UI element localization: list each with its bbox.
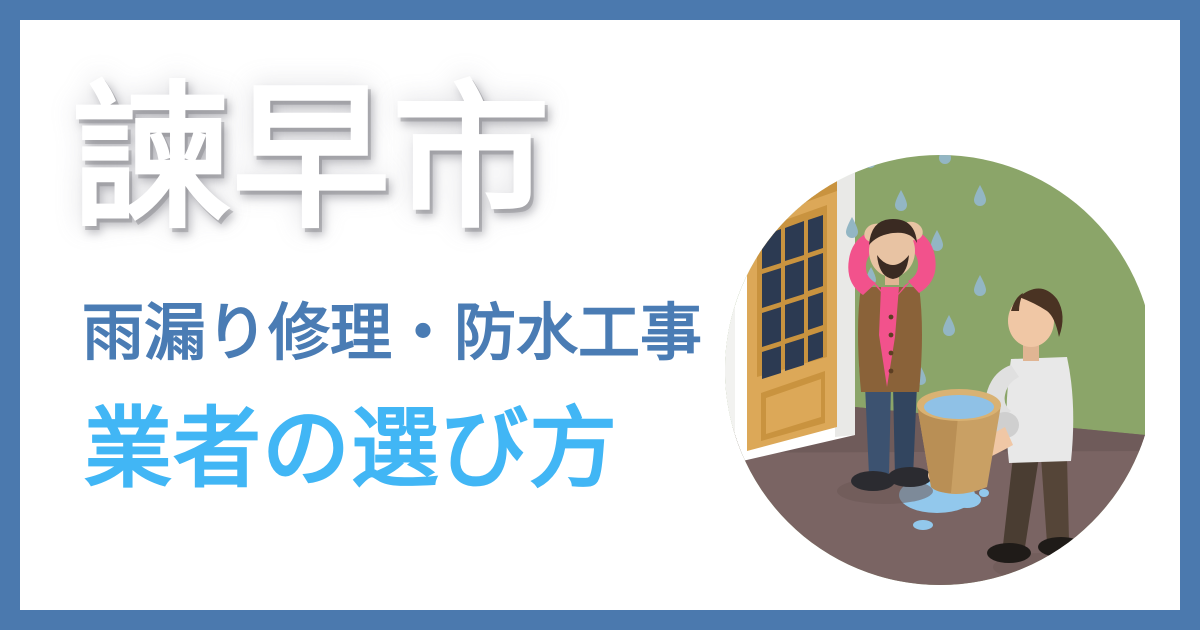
door-glass-panes xyxy=(762,215,823,379)
left-leg xyxy=(865,385,891,475)
subtitle-service: 雨漏り修理・防水工事 xyxy=(82,303,702,365)
shirt xyxy=(1006,357,1073,463)
right-shoe xyxy=(888,467,932,487)
door-casing-left-shade xyxy=(725,195,735,465)
subtitle-howto: 業者の選び方 xyxy=(84,405,618,493)
left-shoe xyxy=(851,471,895,491)
page-title-city: 諫早市 xyxy=(72,80,552,238)
banner-inner-card: 諫早市 雨漏り修理・防水工事 業者の選び方 xyxy=(20,20,1180,610)
right-leg xyxy=(893,385,917,477)
illustration-roof-leak xyxy=(705,135,1145,585)
bucket-water xyxy=(924,395,994,419)
headline-text-block: 諫早市 雨漏り修理・防水工事 業者の選び方 xyxy=(60,60,720,570)
banner-frame: 諫早市 雨漏り修理・防水工事 業者の選び方 xyxy=(0,0,1200,630)
illustration-scene xyxy=(705,135,1145,585)
bucket xyxy=(917,389,1001,494)
door-casing-right-shade xyxy=(835,163,855,437)
back-shoe xyxy=(987,543,1031,563)
front-shoe xyxy=(1038,537,1084,557)
